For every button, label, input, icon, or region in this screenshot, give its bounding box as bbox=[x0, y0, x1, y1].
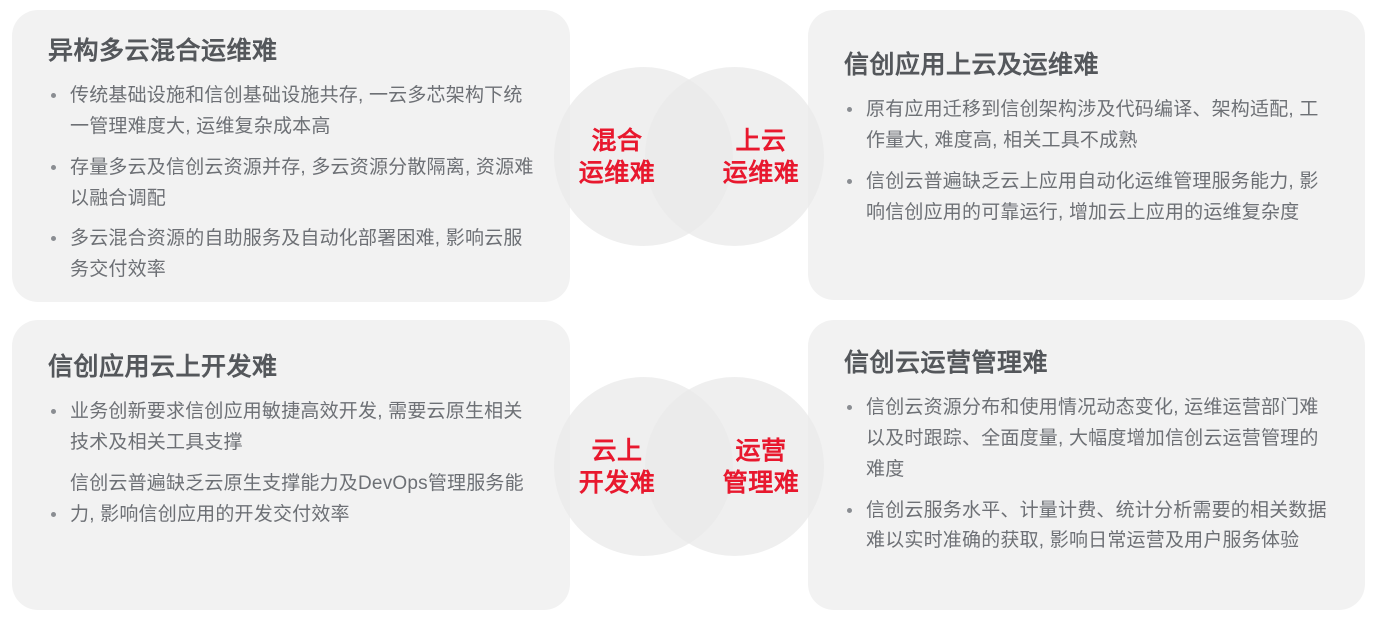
bullet-list: 业务创新要求信创应用敏捷高效开发, 需要云原生相关技术及相关工具支撑 信创云普遍… bbox=[48, 397, 536, 530]
list-item-text: 信创云普遍缺乏云上应用自动化运维管理服务能力, 影响信创应用的可靠运行, 增加云… bbox=[866, 171, 1319, 223]
card-title: 信创云运营管理难 bbox=[844, 348, 1331, 379]
list-item-text: 多云混合资源的自助服务及自动化部署困难, 影响云服务交付效率 bbox=[70, 228, 523, 280]
venn-label-hybrid-ops: 混合 运维难 bbox=[557, 125, 677, 189]
list-item-text: 存量多云及信创云资源并存, 多云资源分散隔离, 资源难以融合调配 bbox=[70, 157, 534, 209]
bullet-dot-icon bbox=[847, 508, 852, 513]
bullet-list: 信创云资源分布和使用情况动态变化, 运维运营部门难以及时跟踪、全面度量, 大幅度… bbox=[844, 393, 1331, 557]
venn-label-line2: 运维难 bbox=[557, 157, 677, 189]
card-xinchuang-cloud-operations-management: 信创云运营管理难 信创云资源分布和使用情况动态变化, 运维运营部门难以及时跟踪、… bbox=[808, 320, 1365, 610]
list-item-text: 信创云普遍缺乏云原生支撑能力及DevOps管理服务能力, 影响信创应用的开发交付… bbox=[70, 473, 524, 525]
list-item: 信创云服务水平、计量计费、统计分析需要的相关数据难以实时准确的获取, 影响日常运… bbox=[844, 496, 1331, 558]
list-item: 原有应用迁移到信创架构涉及代码编译、架构适配, 工作量大, 难度高, 相关工具不… bbox=[844, 95, 1331, 157]
list-item: 信创云普遍缺乏云上应用自动化运维管理服务能力, 影响信创应用的可靠运行, 增加云… bbox=[844, 167, 1331, 229]
list-item: 信创云普遍缺乏云原生支撑能力及DevOps管理服务能力, 影响信创应用的开发交付… bbox=[48, 469, 536, 531]
venn-label-line1: 混合 bbox=[557, 125, 677, 157]
venn-label-line1: 运营 bbox=[701, 435, 821, 467]
list-item-text: 业务创新要求信创应用敏捷高效开发, 需要云原生相关技术及相关工具支撑 bbox=[70, 401, 523, 453]
list-item-text: 信创云服务水平、计量计费、统计分析需要的相关数据难以实时准确的获取, 影响日常运… bbox=[866, 500, 1327, 552]
venn-label-line1: 上云 bbox=[701, 125, 821, 157]
card-content: 异构多云混合运维难 传统基础设施和信创基础设施共存, 一云多芯架构下统一管理难度… bbox=[12, 10, 570, 308]
bullet-dot-icon bbox=[51, 409, 56, 414]
card-title: 信创应用上云及运维难 bbox=[844, 50, 1331, 81]
bullet-dot-icon bbox=[51, 93, 56, 98]
card-xinchuang-app-cloud-development: 信创应用云上开发难 业务创新要求信创应用敏捷高效开发, 需要云原生相关技术及相关… bbox=[12, 320, 570, 610]
list-item: 信创云资源分布和使用情况动态变化, 运维运营部门难以及时跟踪、全面度量, 大幅度… bbox=[844, 393, 1331, 485]
venn-label-cloud-development: 云上 开发难 bbox=[557, 435, 677, 499]
venn-label-operations-management: 运营 管理难 bbox=[701, 435, 821, 499]
bullet-dot-icon bbox=[51, 165, 56, 170]
bullet-dot-icon bbox=[51, 236, 56, 241]
venn-label-cloud-migration-ops: 上云 运维难 bbox=[701, 125, 821, 189]
card-content: 信创应用上云及运维难 原有应用迁移到信创架构涉及代码编译、架构适配, 工作量大,… bbox=[808, 10, 1365, 250]
bullet-dot-icon bbox=[847, 107, 852, 112]
card-title: 信创应用云上开发难 bbox=[48, 352, 536, 383]
bullet-list: 传统基础设施和信创基础设施共存, 一云多芯架构下统一管理难度大, 运维复杂成本高… bbox=[48, 81, 536, 286]
card-content: 信创云运营管理难 信创云资源分布和使用情况动态变化, 运维运营部门难以及时跟踪、… bbox=[808, 320, 1365, 579]
list-item-text: 原有应用迁移到信创架构涉及代码编译、架构适配, 工作量大, 难度高, 相关工具不… bbox=[866, 99, 1319, 151]
list-item: 业务创新要求信创应用敏捷高效开发, 需要云原生相关技术及相关工具支撑 bbox=[48, 397, 536, 459]
card-title: 异构多云混合运维难 bbox=[48, 36, 536, 67]
list-item: 存量多云及信创云资源并存, 多云资源分散隔离, 资源难以融合调配 bbox=[48, 153, 536, 215]
bullet-dot-icon bbox=[847, 179, 852, 184]
bullet-dot-icon bbox=[847, 405, 852, 410]
venn-label-line1: 云上 bbox=[557, 435, 677, 467]
venn-diagram-top: 混合 运维难 上云 运维难 bbox=[554, 67, 824, 247]
venn-label-line2: 管理难 bbox=[701, 467, 821, 499]
bullet-list: 原有应用迁移到信创架构涉及代码编译、架构适配, 工作量大, 难度高, 相关工具不… bbox=[844, 95, 1331, 228]
card-heterogeneous-multicloud-ops: 异构多云混合运维难 传统基础设施和信创基础设施共存, 一云多芯架构下统一管理难度… bbox=[12, 10, 570, 302]
list-item-text: 信创云资源分布和使用情况动态变化, 运维运营部门难以及时跟踪、全面度量, 大幅度… bbox=[866, 397, 1319, 480]
venn-diagram-bottom: 云上 开发难 运营 管理难 bbox=[554, 377, 824, 557]
card-xinchuang-app-cloud-migration-ops: 信创应用上云及运维难 原有应用迁移到信创架构涉及代码编译、架构适配, 工作量大,… bbox=[808, 10, 1365, 300]
venn-label-line2: 运维难 bbox=[701, 157, 821, 189]
bullet-dot-icon bbox=[51, 512, 56, 517]
card-content: 信创应用云上开发难 业务创新要求信创应用敏捷高效开发, 需要云原生相关技术及相关… bbox=[12, 320, 570, 552]
list-item: 传统基础设施和信创基础设施共存, 一云多芯架构下统一管理难度大, 运维复杂成本高 bbox=[48, 81, 536, 143]
list-item: 多云混合资源的自助服务及自动化部署困难, 影响云服务交付效率 bbox=[48, 224, 536, 286]
venn-label-line2: 开发难 bbox=[557, 467, 677, 499]
list-item-text: 传统基础设施和信创基础设施共存, 一云多芯架构下统一管理难度大, 运维复杂成本高 bbox=[70, 85, 523, 137]
infographic-canvas: 异构多云混合运维难 传统基础设施和信创基础设施共存, 一云多芯架构下统一管理难度… bbox=[0, 0, 1378, 620]
